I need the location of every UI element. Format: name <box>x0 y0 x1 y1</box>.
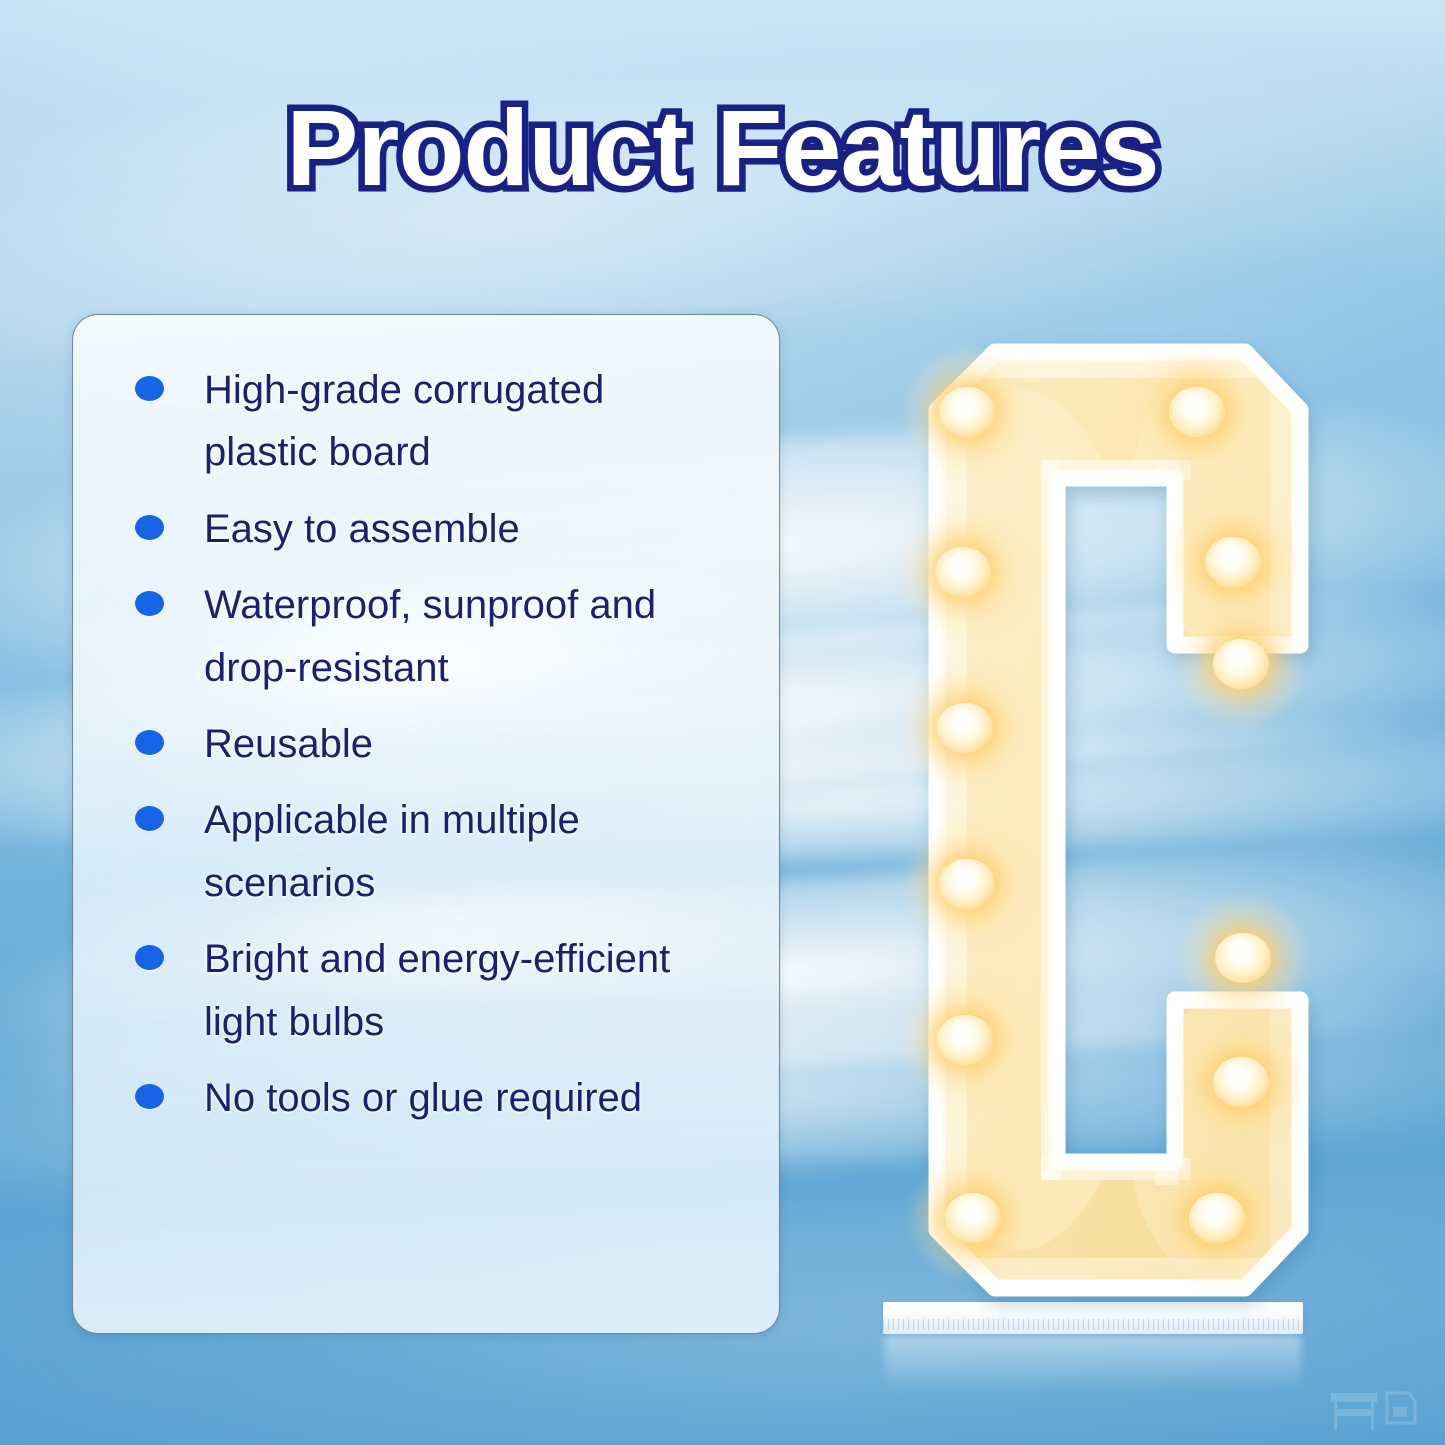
bullet-icon <box>135 376 164 401</box>
feature-text: Applicable in multiple scenarios <box>204 789 709 914</box>
feature-text: Reusable <box>204 713 373 775</box>
bullet-icon <box>135 945 164 970</box>
feature-text: Bright and energy-efficient light bulbs <box>204 928 709 1053</box>
list-item: Easy to assemble <box>73 498 779 560</box>
page-title: Product Features <box>0 94 1445 202</box>
list-item: Bright and energy-efficient light bulbs <box>73 928 779 1053</box>
base-reflection <box>885 1334 1301 1392</box>
product-feature-graphic: Product Features High-grade corrugated p… <box>0 0 1445 1445</box>
feature-text: Waterproof, sunproof and drop-resistant <box>204 574 709 699</box>
feature-text: High-grade corrugated plastic board <box>204 359 709 484</box>
bullet-icon <box>135 1084 164 1109</box>
feature-text: No tools or glue required <box>204 1067 642 1129</box>
bullet-icon <box>135 730 164 755</box>
list-item: Applicable in multiple scenarios <box>73 789 779 914</box>
bullet-icon <box>135 806 164 831</box>
letter-shape <box>845 300 1390 1340</box>
feature-list: High-grade corrugated plastic board Easy… <box>73 359 779 1143</box>
list-item: Reusable <box>73 713 779 775</box>
list-item: High-grade corrugated plastic board <box>73 359 779 484</box>
marquee-letter <box>845 300 1390 1340</box>
list-item: Waterproof, sunproof and drop-resistant <box>73 574 779 699</box>
feature-text: Easy to assemble <box>204 498 520 560</box>
bullet-icon <box>135 515 164 540</box>
bullet-icon <box>135 591 164 616</box>
letter-inner-shading <box>870 350 1350 1295</box>
product-image <box>845 300 1390 1400</box>
list-item: No tools or glue required <box>73 1067 779 1129</box>
feature-panel: High-grade corrugated plastic board Easy… <box>72 314 780 1334</box>
